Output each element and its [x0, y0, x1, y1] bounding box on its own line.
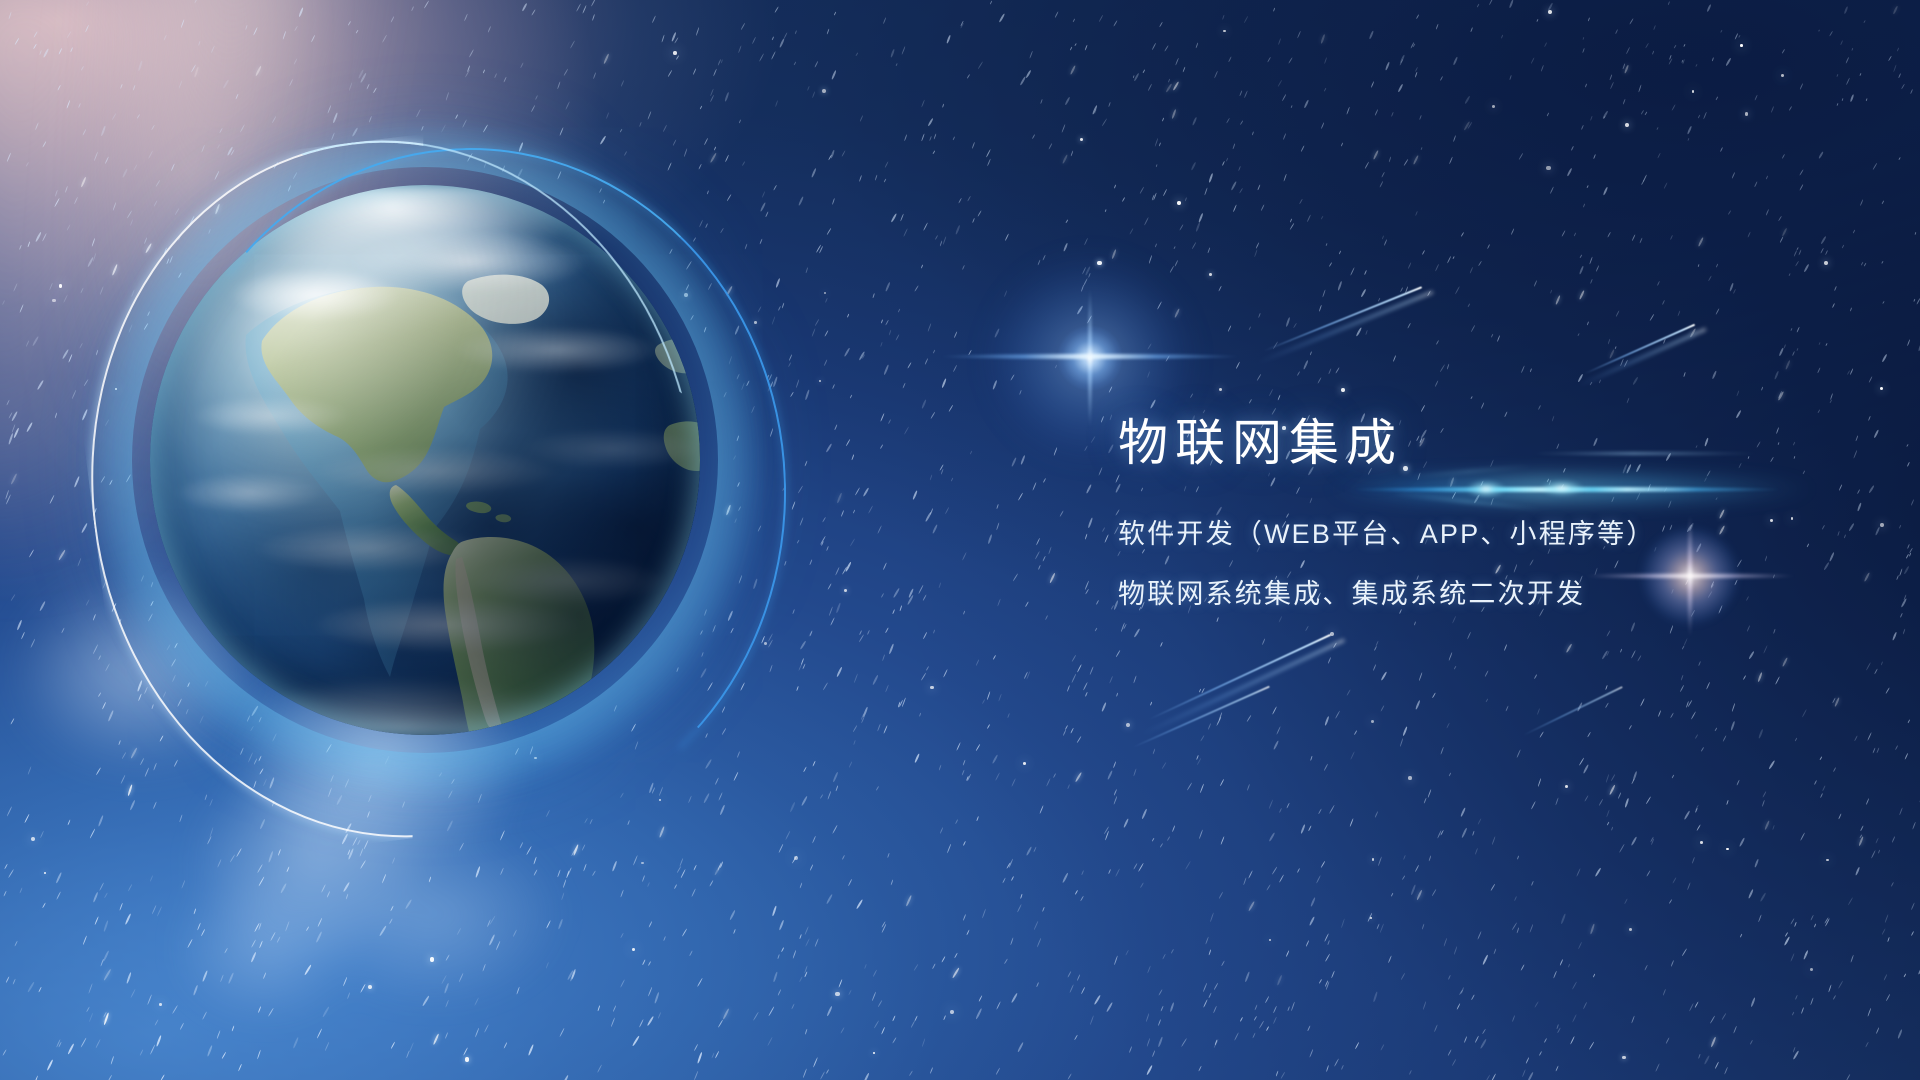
page-title: 物联网集成	[1118, 414, 1838, 473]
subtitle-line-1: 软件开发（WEB平台、APP、小程序等）	[1118, 521, 1838, 548]
hero-banner: 物联网集成 软件开发（WEB平台、APP、小程序等） 物联网系统集成、集成系统二…	[0, 0, 1920, 1080]
subtitle-line-2: 物联网系统集成、集成系统二次开发	[1118, 581, 1838, 608]
text-block: 物联网集成 软件开发（WEB平台、APP、小程序等） 物联网系统集成、集成系统二…	[1118, 414, 1838, 608]
